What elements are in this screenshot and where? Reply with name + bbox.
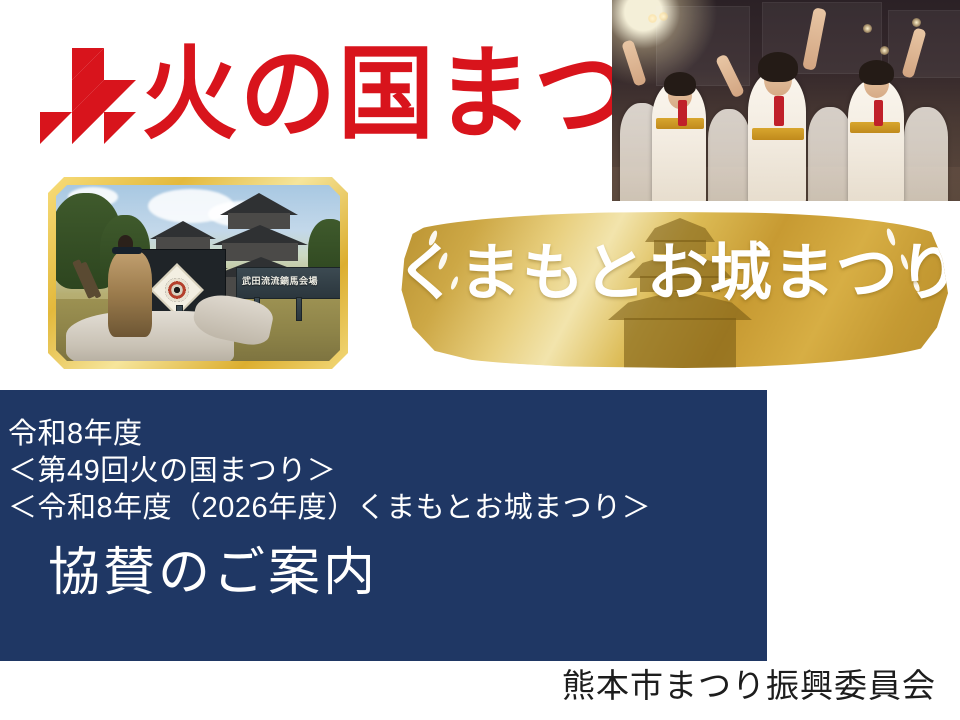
castle-roof xyxy=(212,225,308,245)
target-rings-icon xyxy=(160,273,194,307)
photo-streetlamp xyxy=(880,46,889,55)
photo-dancer-hair xyxy=(664,72,696,96)
yabusame-photo: 武田流流鏑馬会場 xyxy=(56,185,340,361)
photo-dancer-trim xyxy=(774,96,784,126)
sign-post xyxy=(296,297,302,321)
panel-headline: 協賛のご案内 xyxy=(48,541,767,605)
photo-building xyxy=(888,10,960,78)
yabusame-photo-frame: 武田流流鏑馬会場 xyxy=(48,177,348,369)
photo-dancer-trim xyxy=(874,100,883,126)
photo-streetlamp xyxy=(863,24,872,33)
photo-dancer xyxy=(808,107,852,201)
photo-dancer-hair xyxy=(758,52,798,82)
photo-streetlamp xyxy=(648,14,657,23)
castle-tier xyxy=(624,318,736,368)
navy-info-panel: 令和8年度 ＜第49回火の国まつり＞ ＜令和8年度（2026年度）くまもとお城ま… xyxy=(0,390,767,661)
panel-line-3: ＜令和8年度（2026年度）くまもとお城まつり＞ xyxy=(8,490,767,527)
hinokuni-matsuri-logo: 火の国まつり xyxy=(36,34,616,154)
photo-streetlamp xyxy=(912,18,921,27)
panel-line-2: ＜第49回火の国まつり＞ xyxy=(8,453,767,490)
photo-dancer-sash xyxy=(752,128,804,140)
panel-line-1: 令和8年度 xyxy=(8,416,767,453)
footer-organization: 熊本市まつり振興委員会 xyxy=(562,666,936,706)
oshiro-matsuri-banner: くまもとお城まつり xyxy=(396,212,948,368)
photo-dancer-trim xyxy=(678,100,687,126)
hinokuni-triangles-logo-icon xyxy=(40,48,136,144)
oshiro-banner-text: くまもとお城まつり xyxy=(396,242,948,304)
photo-dancer xyxy=(904,107,948,201)
photo-dancer xyxy=(708,109,750,201)
photo-dancer-hair xyxy=(859,60,894,85)
venue-sign-text: 武田流流鏑馬会場 xyxy=(242,277,318,286)
rider-body xyxy=(108,251,152,337)
festival-dance-photo xyxy=(612,0,960,201)
hinokuni-wordmark: 火の国まつり xyxy=(142,30,612,157)
banner-gold-background: くまもとお城まつり xyxy=(396,212,948,368)
poster-page: 火の国まつり xyxy=(0,0,960,720)
rider-hat xyxy=(112,247,142,254)
photo-streetlamp xyxy=(659,12,668,21)
